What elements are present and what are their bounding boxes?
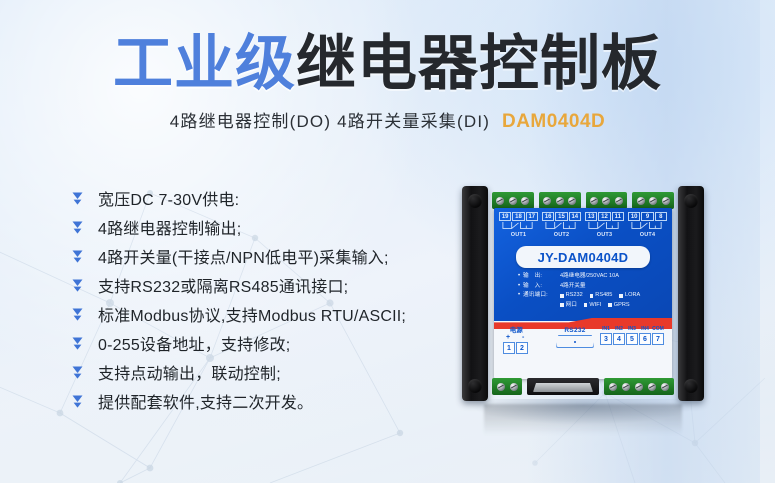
port-label: 网口 bbox=[566, 301, 577, 311]
serial-port-label: RS232 bbox=[556, 327, 594, 334]
terminal-number: 19 bbox=[499, 212, 511, 221]
terminal-block-row-bottom bbox=[492, 378, 674, 395]
double-chevron-down-icon bbox=[72, 360, 98, 385]
terminal-block bbox=[604, 378, 674, 395]
terminal-number: 2 bbox=[516, 342, 528, 354]
port-option: RS485 bbox=[590, 291, 613, 301]
power-polarity: + - bbox=[506, 334, 529, 341]
terminal-number: 4 bbox=[613, 333, 625, 345]
feature-item: 0-255设备地址，支持修改; bbox=[72, 331, 472, 360]
port-label: GPRS bbox=[614, 301, 630, 311]
device-faceplate: 19 18 17 OUT1 16 15 14 bbox=[494, 208, 672, 379]
checkbox-icon bbox=[608, 303, 612, 307]
power-terminal-group: 电源 + - 1 2 bbox=[503, 324, 529, 354]
port-option: WIFI bbox=[584, 301, 601, 311]
screw-hole-icon bbox=[468, 194, 482, 208]
double-chevron-down-icon bbox=[72, 215, 98, 240]
model-name-text: JY-DAM0404D bbox=[538, 250, 629, 265]
screw-terminal-icon bbox=[635, 383, 643, 391]
screw-terminal-icon bbox=[496, 197, 504, 205]
feature-text: 4路继电器控制输出; bbox=[98, 215, 241, 244]
screw-terminal-icon bbox=[637, 197, 645, 205]
input-labels: IN1 IN2 IN3 IN4 COM bbox=[600, 326, 664, 332]
terminal-number: 7 bbox=[652, 333, 664, 345]
terminal-number: 1 bbox=[503, 342, 515, 354]
double-chevron-down-icon bbox=[72, 244, 98, 269]
faceplate-lower-section: 电源 + - 1 2 RS232 IN1 bbox=[494, 321, 672, 379]
output-label: OUT4 bbox=[628, 232, 667, 238]
double-chevron-down-icon bbox=[72, 389, 98, 414]
subtitle-model: DAM0404D bbox=[502, 111, 605, 132]
terminal-numbers: 13 12 11 bbox=[585, 212, 624, 221]
mounting-rail-left bbox=[462, 186, 488, 401]
product-banner: 工业级继电器控制板 4路继电器控制(DO) 4路开关量采集(DI) DAM040… bbox=[0, 0, 775, 483]
spec-row: • 输 出: 4路继电器/250VAC 10A bbox=[518, 272, 664, 282]
feature-text: 支持RS232或隔离RS485通讯接口; bbox=[98, 273, 348, 302]
input-label: COM bbox=[652, 326, 664, 332]
screw-terminal-icon bbox=[661, 383, 669, 391]
screw-terminal-icon bbox=[622, 383, 630, 391]
screw-hole-icon bbox=[684, 379, 698, 393]
feature-item: 4路继电器控制输出; bbox=[72, 215, 472, 244]
input-label: IN3 bbox=[626, 326, 638, 332]
feature-list: 宽压DC 7-30V供电: 4路继电器控制输出; 4路开关量(干接点/NPN低电… bbox=[72, 186, 472, 418]
product-device-image: 19 18 17 OUT1 16 15 14 bbox=[462, 186, 704, 401]
double-chevron-down-icon bbox=[72, 273, 98, 298]
spec-value: 4路继电器/250VAC 10A bbox=[560, 272, 664, 282]
subtitle-text: 4路继电器控制(DO) 4路开关量采集(DI) bbox=[170, 112, 490, 131]
output-group: 10 9 8 OUT4 bbox=[628, 212, 667, 242]
screw-terminal-icon bbox=[510, 383, 518, 391]
power-label: 电源 bbox=[503, 324, 529, 334]
spec-key: 通讯端口: bbox=[523, 291, 560, 301]
terminal-number: 15 bbox=[555, 212, 567, 221]
mounting-rail-right bbox=[678, 186, 704, 401]
device-reflection bbox=[484, 404, 682, 444]
terminal-numbers: 10 9 8 bbox=[628, 212, 667, 221]
checkbox-icon bbox=[560, 303, 564, 307]
screw-terminal-icon bbox=[590, 197, 598, 205]
terminal-number: 12 bbox=[598, 212, 610, 221]
input-label: IN2 bbox=[613, 326, 625, 332]
terminal-number: 13 bbox=[585, 212, 597, 221]
terminal-number: 18 bbox=[512, 212, 524, 221]
port-options-row-2: 网口 WIFI GPRS bbox=[560, 301, 664, 311]
terminal-number: 14 bbox=[569, 212, 581, 221]
double-chevron-down-icon bbox=[72, 302, 98, 327]
double-chevron-down-icon bbox=[72, 186, 98, 211]
terminal-number: 9 bbox=[641, 212, 653, 221]
terminal-block bbox=[492, 378, 522, 395]
page-title: 工业级继电器控制板 bbox=[0, 32, 775, 95]
device-body: 19 18 17 OUT1 16 15 14 bbox=[486, 192, 680, 395]
terminal-number: 16 bbox=[542, 212, 554, 221]
feature-text: 4路开关量(干接点/NPN低电平)采集输入; bbox=[98, 244, 389, 273]
input-terminal-numbers: 3 4 5 6 7 bbox=[600, 333, 664, 345]
output-label: OUT3 bbox=[585, 232, 624, 238]
port-label: RS485 bbox=[595, 291, 612, 301]
screw-terminal-icon bbox=[497, 383, 505, 391]
db9-serial-connector bbox=[527, 378, 599, 395]
screw-terminal-icon bbox=[556, 197, 564, 205]
input-terminal-group: IN1 IN2 IN3 IN4 COM 3 4 5 6 7 bbox=[600, 326, 664, 345]
feature-item: 4路开关量(干接点/NPN低电平)采集输入; bbox=[72, 244, 472, 273]
feature-item: 支持点动输出，联动控制; bbox=[72, 360, 472, 389]
port-label: RS232 bbox=[566, 291, 583, 301]
feature-text: 标准Modbus协议,支持Modbus RTU/ASCII; bbox=[98, 302, 406, 331]
terminal-block bbox=[492, 192, 534, 209]
port-label: WIFI bbox=[589, 301, 601, 311]
screw-terminal-icon bbox=[602, 197, 610, 205]
port-options-row-1: RS232 RS485 LORA bbox=[560, 291, 664, 301]
checkbox-icon bbox=[584, 303, 588, 307]
spec-key: 输 入: bbox=[523, 282, 560, 292]
power-terminal-numbers: 1 2 bbox=[503, 342, 529, 354]
screw-hole-icon bbox=[468, 379, 482, 393]
checkbox-icon bbox=[619, 294, 623, 298]
output-group: 19 18 17 OUT1 bbox=[499, 212, 538, 242]
screw-terminal-icon bbox=[609, 383, 617, 391]
feature-text: 支持点动输出，联动控制; bbox=[98, 360, 281, 389]
port-option: LORA bbox=[619, 291, 640, 301]
input-label: IN1 bbox=[600, 326, 612, 332]
model-name-plate: JY-DAM0404D bbox=[516, 246, 650, 268]
checkbox-icon bbox=[560, 294, 564, 298]
terminal-number: 17 bbox=[526, 212, 538, 221]
screw-terminal-icon bbox=[568, 197, 576, 205]
spec-list: • 输 出: 4路继电器/250VAC 10A • 输 入: 4路开关量 • 通… bbox=[518, 272, 664, 310]
terminal-block bbox=[539, 192, 581, 209]
output-label: OUT2 bbox=[542, 232, 581, 238]
db9-connector-icon bbox=[556, 335, 594, 348]
terminal-number: 6 bbox=[639, 333, 651, 345]
banner-header: 工业级继电器控制板 4路继电器控制(DO) 4路开关量采集(DI) DAM040… bbox=[0, 32, 775, 133]
checkbox-icon bbox=[590, 294, 594, 298]
port-option: GPRS bbox=[608, 301, 629, 311]
output-group: 16 15 14 OUT2 bbox=[542, 212, 581, 242]
terminal-block bbox=[632, 192, 674, 209]
terminal-number: 8 bbox=[655, 212, 667, 221]
input-label: IN4 bbox=[639, 326, 651, 332]
feature-item: 宽压DC 7-30V供电: bbox=[72, 186, 472, 215]
spec-value: 4路开关量 bbox=[560, 282, 664, 292]
double-chevron-down-icon bbox=[72, 331, 98, 356]
screw-terminal-icon bbox=[615, 197, 623, 205]
terminal-block-row-top bbox=[492, 192, 674, 209]
feature-item: 支持RS232或隔离RS485通讯接口; bbox=[72, 273, 472, 302]
screw-terminal-icon bbox=[509, 197, 517, 205]
terminal-numbers: 16 15 14 bbox=[542, 212, 581, 221]
feature-item: 标准Modbus协议,支持Modbus RTU/ASCII; bbox=[72, 302, 472, 331]
terminal-block bbox=[586, 192, 628, 209]
subtitle: 4路继电器控制(DO) 4路开关量采集(DI) DAM0404D bbox=[0, 107, 775, 133]
title-rest: 继电器控制板 bbox=[296, 30, 662, 97]
screw-terminal-icon bbox=[543, 197, 551, 205]
output-label: OUT1 bbox=[499, 232, 538, 238]
terminal-numbers: 19 18 17 bbox=[499, 212, 538, 221]
screw-terminal-icon bbox=[521, 197, 529, 205]
feature-text: 宽压DC 7-30V供电: bbox=[98, 186, 239, 215]
screw-terminal-icon bbox=[662, 197, 670, 205]
title-highlight: 工业级 bbox=[113, 30, 296, 97]
terminal-number: 3 bbox=[600, 333, 612, 345]
port-option: 网口 bbox=[560, 301, 577, 311]
terminal-number: 11 bbox=[612, 212, 624, 221]
spec-row: • 输 入: 4路开关量 bbox=[518, 282, 664, 292]
screw-terminal-icon bbox=[649, 197, 657, 205]
terminal-number: 10 bbox=[628, 212, 640, 221]
serial-port-group: RS232 bbox=[556, 327, 594, 348]
feature-text: 提供配套软件,支持二次开发。 bbox=[98, 389, 313, 418]
spec-key: 输 出: bbox=[523, 272, 560, 282]
feature-item: 提供配套软件,支持二次开发。 bbox=[72, 389, 472, 418]
output-group: 13 12 11 OUT3 bbox=[585, 212, 624, 242]
feature-text: 0-255设备地址，支持修改; bbox=[98, 331, 290, 360]
terminal-number: 5 bbox=[626, 333, 638, 345]
output-terminal-diagram: 19 18 17 OUT1 16 15 14 bbox=[499, 212, 667, 242]
spec-row: • 通讯端口: RS232 RS485 LORA bbox=[518, 291, 664, 301]
port-option: RS232 bbox=[560, 291, 583, 301]
port-label: LORA bbox=[625, 291, 640, 301]
screw-terminal-icon bbox=[648, 383, 656, 391]
screw-hole-icon bbox=[684, 194, 698, 208]
